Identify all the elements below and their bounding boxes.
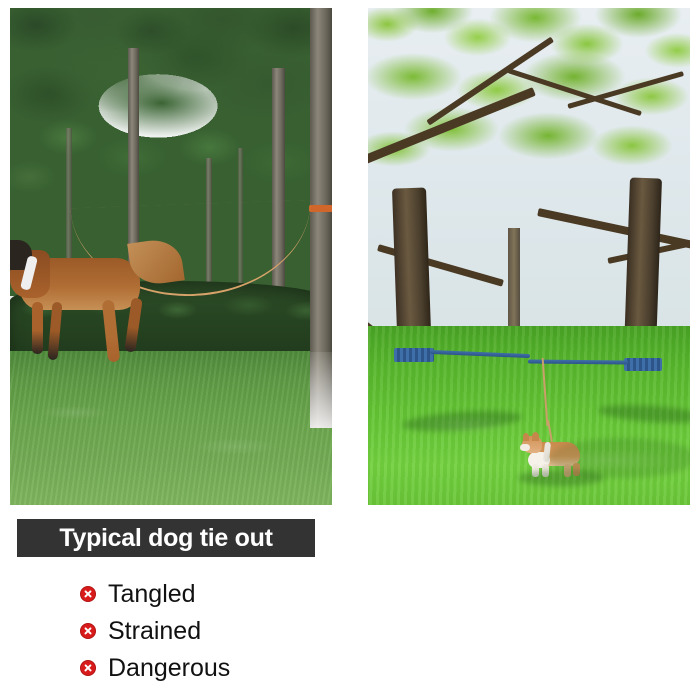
dog-leg	[32, 302, 43, 354]
comparison-infographic: Typical dog tie out Tangled Strained Dan…	[0, 0, 700, 700]
anchor-tree-trunk	[310, 8, 332, 428]
photo-scene-overcast-park	[10, 8, 332, 505]
cross-icon	[80, 623, 96, 639]
title-bar-typical-dog-tie-out: Typical dog tie out	[17, 519, 315, 557]
panel-dog-trolley-system: Dog trolley system Tangle free Freedom S…	[350, 0, 700, 700]
cable-wrap-right-tree	[624, 358, 662, 371]
corgi-ear	[523, 433, 529, 441]
canopy-shadow	[548, 438, 690, 478]
feature-label: Dangerous	[108, 656, 230, 681]
feature-item: Tangled	[80, 578, 230, 610]
panel-title: Typical dog tie out	[59, 526, 272, 551]
corgi-ear	[532, 432, 539, 441]
cross-icon	[80, 660, 96, 676]
photo-scene-sunny-park	[368, 8, 690, 505]
rope-knot	[309, 205, 332, 212]
dog-malinois	[10, 240, 210, 400]
feature-item: Dangerous	[80, 652, 230, 684]
cable-wrap-left-tree	[394, 348, 434, 362]
corgi-muzzle	[520, 444, 530, 451]
feature-label: Tangled	[108, 582, 196, 607]
photo-dog-trolley-system	[368, 8, 690, 505]
dog-leg	[47, 302, 62, 361]
panel-typical-dog-tie-out: Typical dog tie out Tangled Strained Dan…	[0, 0, 350, 700]
feature-item: Strained	[80, 615, 230, 647]
feature-label: Strained	[108, 619, 201, 644]
cross-icon	[80, 586, 96, 602]
photo-typical-dog-tie-out	[10, 8, 332, 505]
feature-list-typical-dog-tie-out: Tangled Strained Dangerous	[80, 578, 230, 684]
